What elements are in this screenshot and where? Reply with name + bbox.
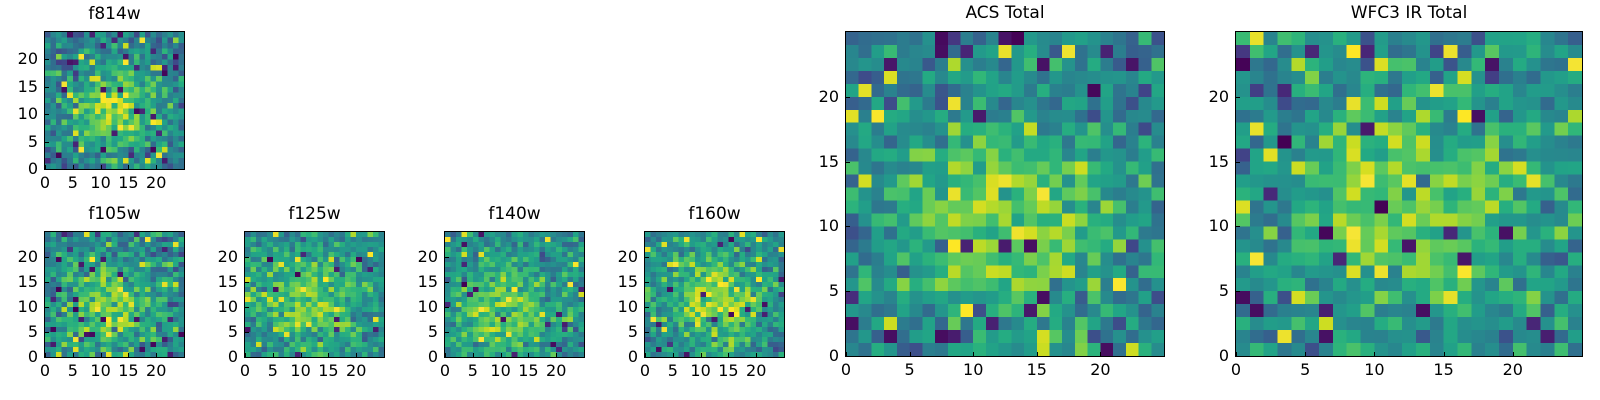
xticklabel-wfc3-ir-total-20: 20 bbox=[1503, 362, 1523, 378]
ytick-wfc3-ir-total-0 bbox=[1236, 356, 1240, 357]
xticklabel-wfc3-ir-total-10: 10 bbox=[1364, 362, 1384, 378]
yticklabel-wfc3-ir-total-15: 15 bbox=[1183, 154, 1229, 170]
panel-wfc3-ir-total: WFC3 IR Total0510152005101520 bbox=[0, 0, 1600, 400]
ytick-wfc3-ir-total-10 bbox=[1236, 226, 1240, 227]
panel-title-wfc3-ir-total: WFC3 IR Total bbox=[1235, 5, 1583, 22]
xticklabel-wfc3-ir-total-5: 5 bbox=[1300, 362, 1310, 378]
ytick-wfc3-ir-total-5 bbox=[1236, 291, 1240, 292]
heatmap-wfc3-ir-total bbox=[1236, 32, 1582, 356]
xticklabel-wfc3-ir-total-0: 0 bbox=[1231, 362, 1241, 378]
xticklabel-wfc3-ir-total-15: 15 bbox=[1433, 362, 1453, 378]
xtick-wfc3-ir-total-10 bbox=[1374, 352, 1375, 356]
xtick-wfc3-ir-total-15 bbox=[1444, 352, 1445, 356]
yticklabel-wfc3-ir-total-20: 20 bbox=[1183, 89, 1229, 105]
yticklabel-wfc3-ir-total-10: 10 bbox=[1183, 218, 1229, 234]
axes-wfc3-ir-total bbox=[1235, 31, 1583, 357]
figure-canvas: f814w0510152005101520f105w05101520051015… bbox=[0, 0, 1600, 400]
xtick-wfc3-ir-total-20 bbox=[1513, 352, 1514, 356]
xtick-wfc3-ir-total-5 bbox=[1305, 352, 1306, 356]
ytick-wfc3-ir-total-20 bbox=[1236, 97, 1240, 98]
ytick-wfc3-ir-total-15 bbox=[1236, 162, 1240, 163]
yticklabel-wfc3-ir-total-5: 5 bbox=[1183, 283, 1229, 299]
yticklabel-wfc3-ir-total-0: 0 bbox=[1183, 348, 1229, 364]
